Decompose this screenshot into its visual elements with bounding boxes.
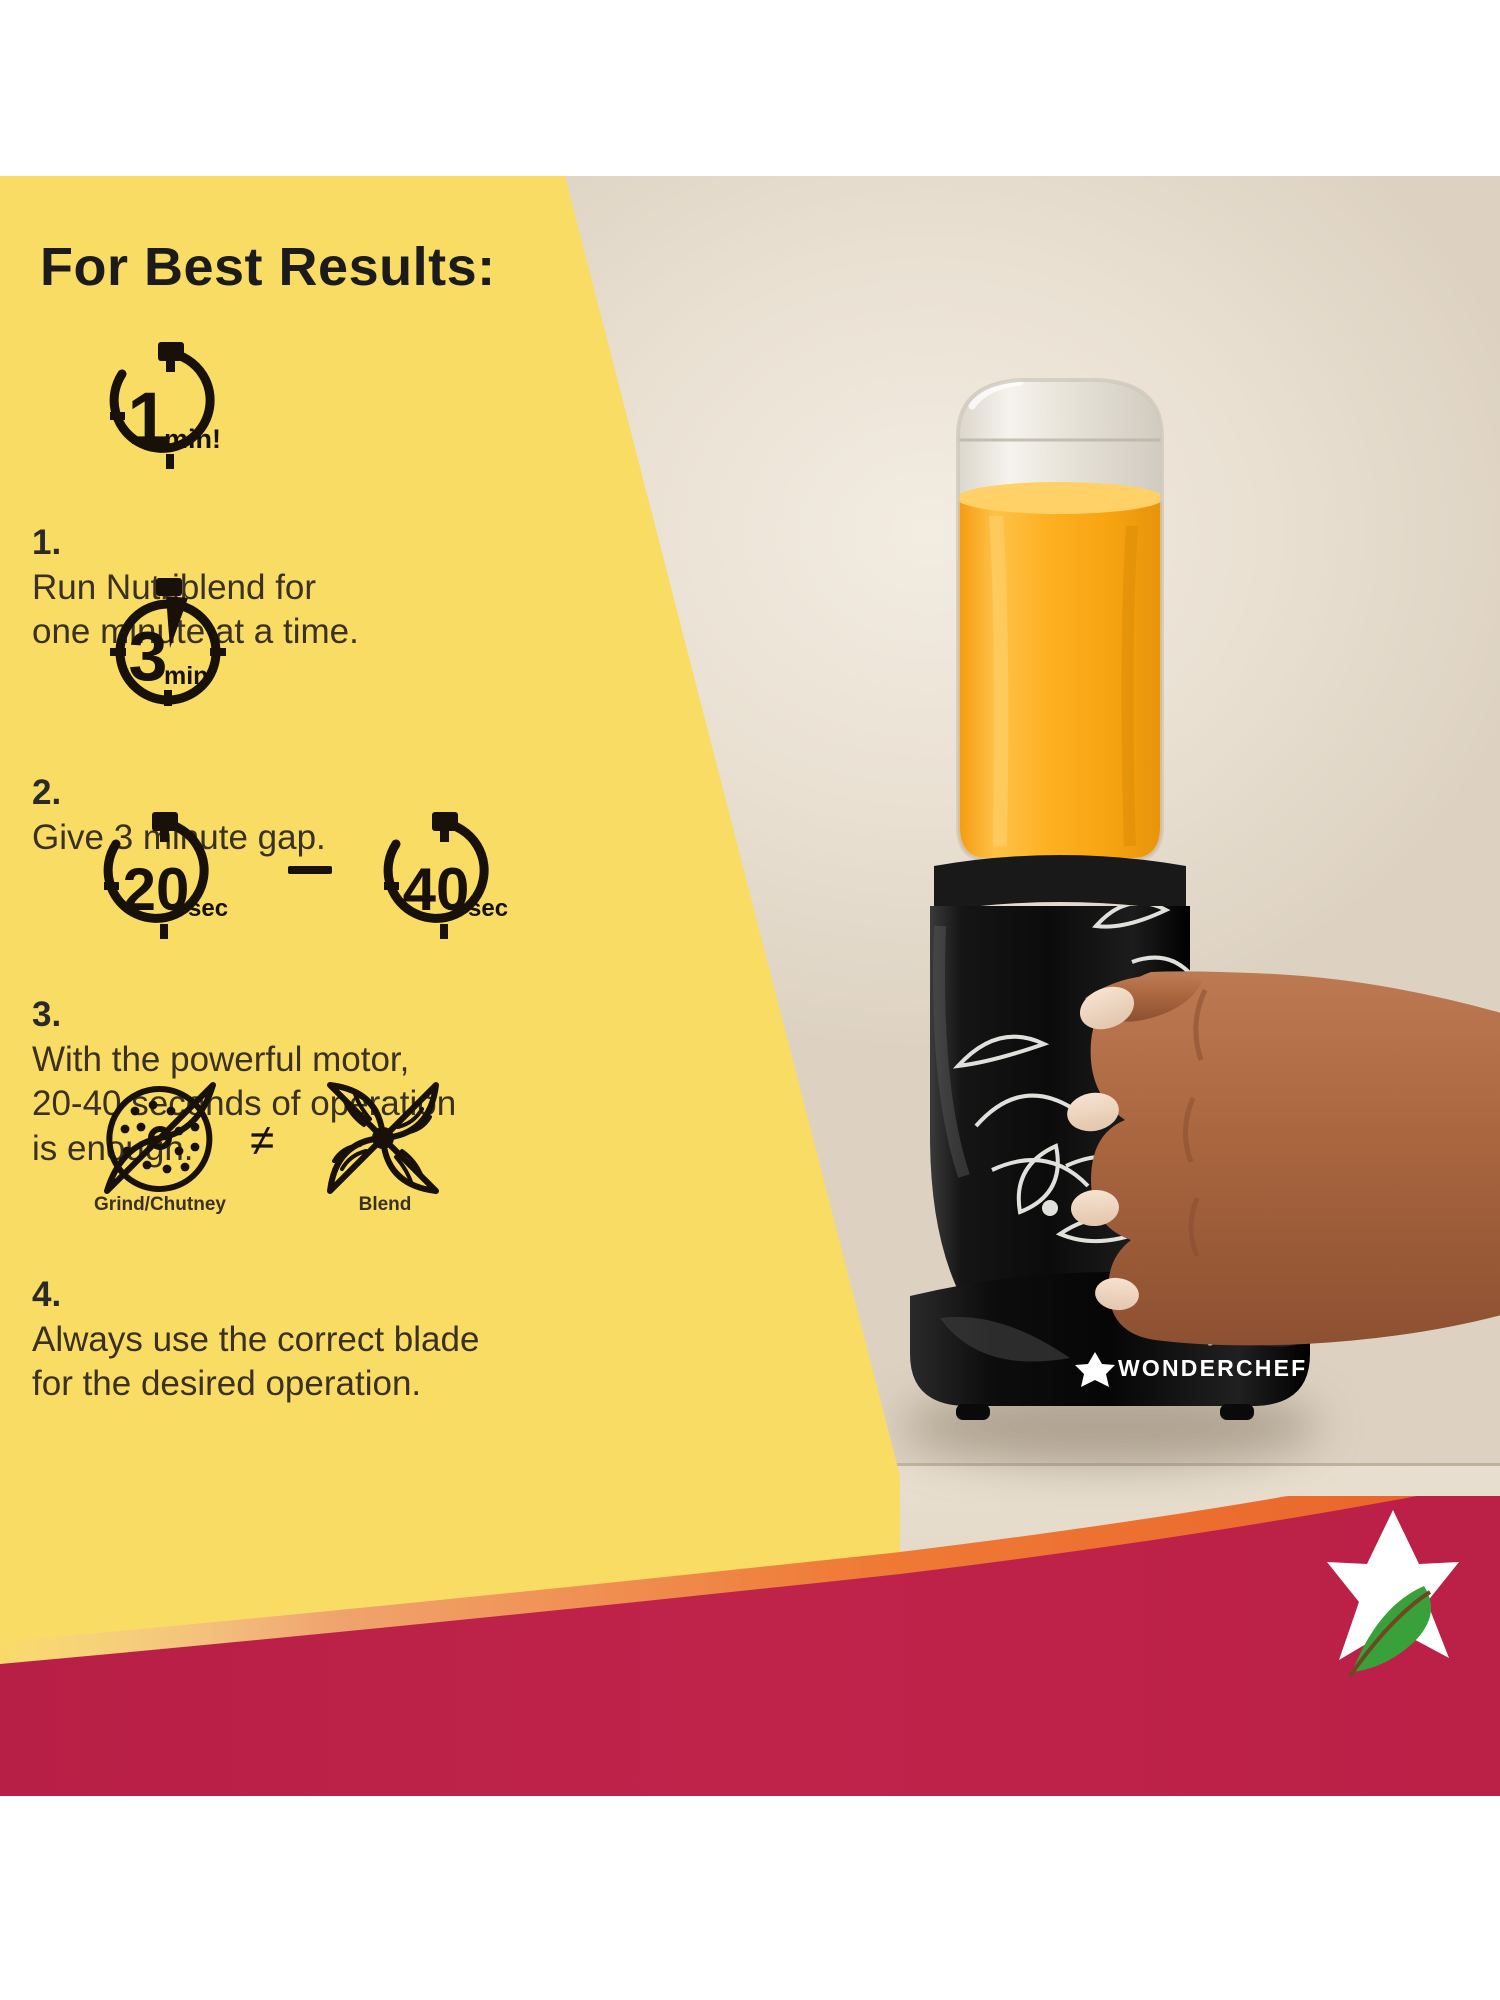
- step-3-number: 3.: [32, 995, 61, 1034]
- brand-banner: [0, 1496, 1500, 1796]
- wonderchef-brand-text: WONDERCHEF: [1118, 1355, 1307, 1381]
- product-infographic-card: Sanjeev WONDERCHEF: [0, 176, 1500, 1796]
- not-equal-sign: ≠: [250, 1116, 274, 1166]
- twenty-second-timer-icon: 20 sec: [90, 806, 255, 941]
- timer-value-1: 1: [127, 377, 168, 460]
- timer-unit-20: sec: [188, 895, 228, 922]
- timer-value-20: 20: [123, 856, 190, 923]
- screenshot-root: Sanjeev WONDERCHEF: [0, 0, 1500, 2000]
- grind-chutney-blade-icon: [95, 1081, 225, 1196]
- blend-blade-icon: [318, 1081, 448, 1196]
- step-4: 4. Always use the correct blade for the …: [32, 1228, 572, 1407]
- jar-collar: [934, 855, 1186, 912]
- step-2-number: 2.: [32, 773, 61, 812]
- step-4-text: Always use the correct blade for the des…: [32, 1320, 479, 1404]
- one-minute-timer-icon: 1 min!: [96, 336, 246, 471]
- timer-unit-1: min!: [164, 424, 221, 454]
- hand-holding-product: [1055, 936, 1500, 1356]
- banner-shape: [0, 1496, 1500, 1796]
- step-4-number: 4.: [32, 1275, 61, 1314]
- wonderchef-star-logo: [1318, 1504, 1468, 1689]
- page-title: For Best Results:: [40, 236, 496, 298]
- timer-value-40: 40: [403, 856, 470, 923]
- forty-second-timer-icon: 40 sec: [370, 806, 535, 941]
- three-minute-timer-icon: 3 min: [96, 576, 246, 711]
- grind-chutney-blade-label: Grind/Chutney: [60, 1194, 260, 1216]
- timer-value-3: 3: [129, 617, 168, 695]
- timer-unit-40: sec: [468, 895, 508, 922]
- step-1-number: 1.: [32, 523, 61, 562]
- timer-unit-3: min: [164, 662, 208, 690]
- blend-blade-label: Blend: [285, 1194, 485, 1216]
- jar-contents: [956, 482, 1164, 866]
- range-dash: [288, 866, 332, 874]
